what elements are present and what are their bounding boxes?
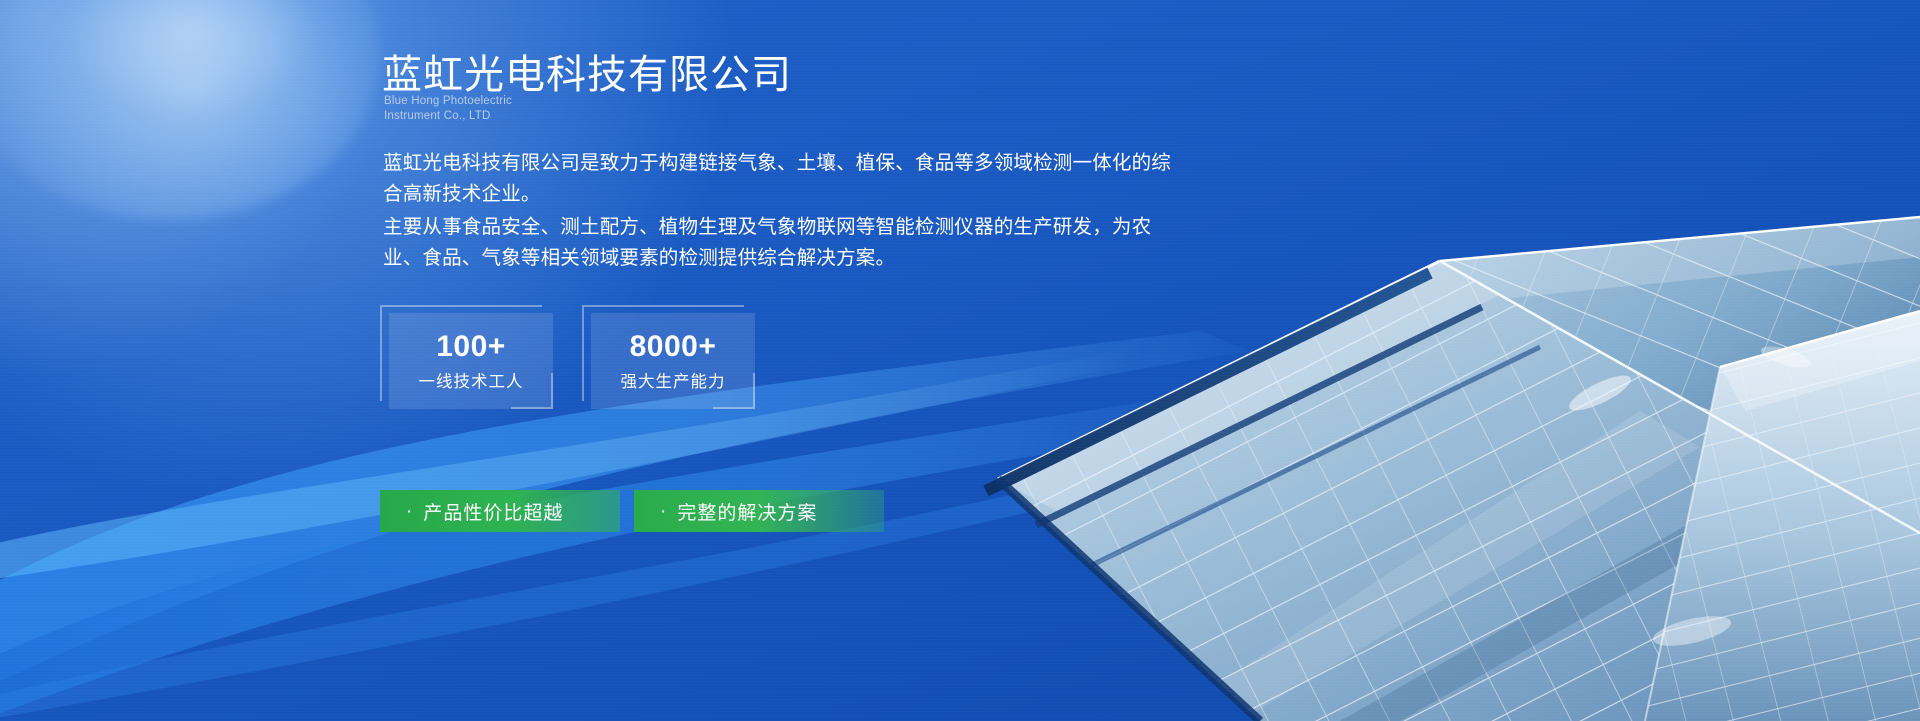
stat-caption: 强大生产能力 (621, 374, 726, 391)
company-title-english-line2: Instrument Co., LTD (384, 109, 512, 124)
feature-tag-solution[interactable]: · 完整的解决方案 (634, 490, 884, 532)
stat-card-panel: 8000+ 强大生产能力 (591, 313, 755, 409)
stat-card-panel: 100+ 一线技术工人 (389, 313, 553, 409)
feature-tag-label: 完整的解决方案 (677, 498, 817, 525)
bullet-dot-icon: · (406, 502, 413, 521)
stat-value: 8000+ (630, 332, 717, 362)
company-title: 蓝虹光电科技有限公司 (382, 42, 792, 100)
stat-card-group: 100+ 一线技术工人 8000+ 强大生产能力 (380, 305, 755, 409)
company-title-english: Blue Hong Photoelectric Instrument Co., … (384, 94, 512, 123)
hero-banner: 蓝虹光电科技有限公司 Blue Hong Photoelectric Instr… (0, 0, 1920, 721)
intro-paragraph-1: 蓝虹光电科技有限公司是致力于构建链接气象、土壤、植保、食品等多领域检测一体化的综… (383, 148, 1183, 210)
hero-content: 蓝虹光电科技有限公司 Blue Hong Photoelectric Instr… (380, 0, 1580, 721)
feature-tag-label: 产品性价比超越 (423, 498, 563, 525)
feature-tag-value[interactable]: · 产品性价比超越 (380, 490, 620, 532)
intro-paragraph-2: 主要从事食品安全、测土配方、植物生理及气象物联网等智能检测仪器的生产研发，为农业… (383, 212, 1183, 274)
stat-card-technicians: 100+ 一线技术工人 (380, 305, 553, 409)
stat-value: 100+ (436, 332, 506, 362)
stat-caption: 一线技术工人 (419, 374, 524, 391)
bullet-dot-icon: · (660, 502, 667, 521)
feature-tag-group: · 产品性价比超越 · 完整的解决方案 (380, 490, 884, 532)
company-title-english-line1: Blue Hong Photoelectric (384, 94, 512, 109)
stat-card-capacity: 8000+ 强大生产能力 (582, 305, 755, 409)
